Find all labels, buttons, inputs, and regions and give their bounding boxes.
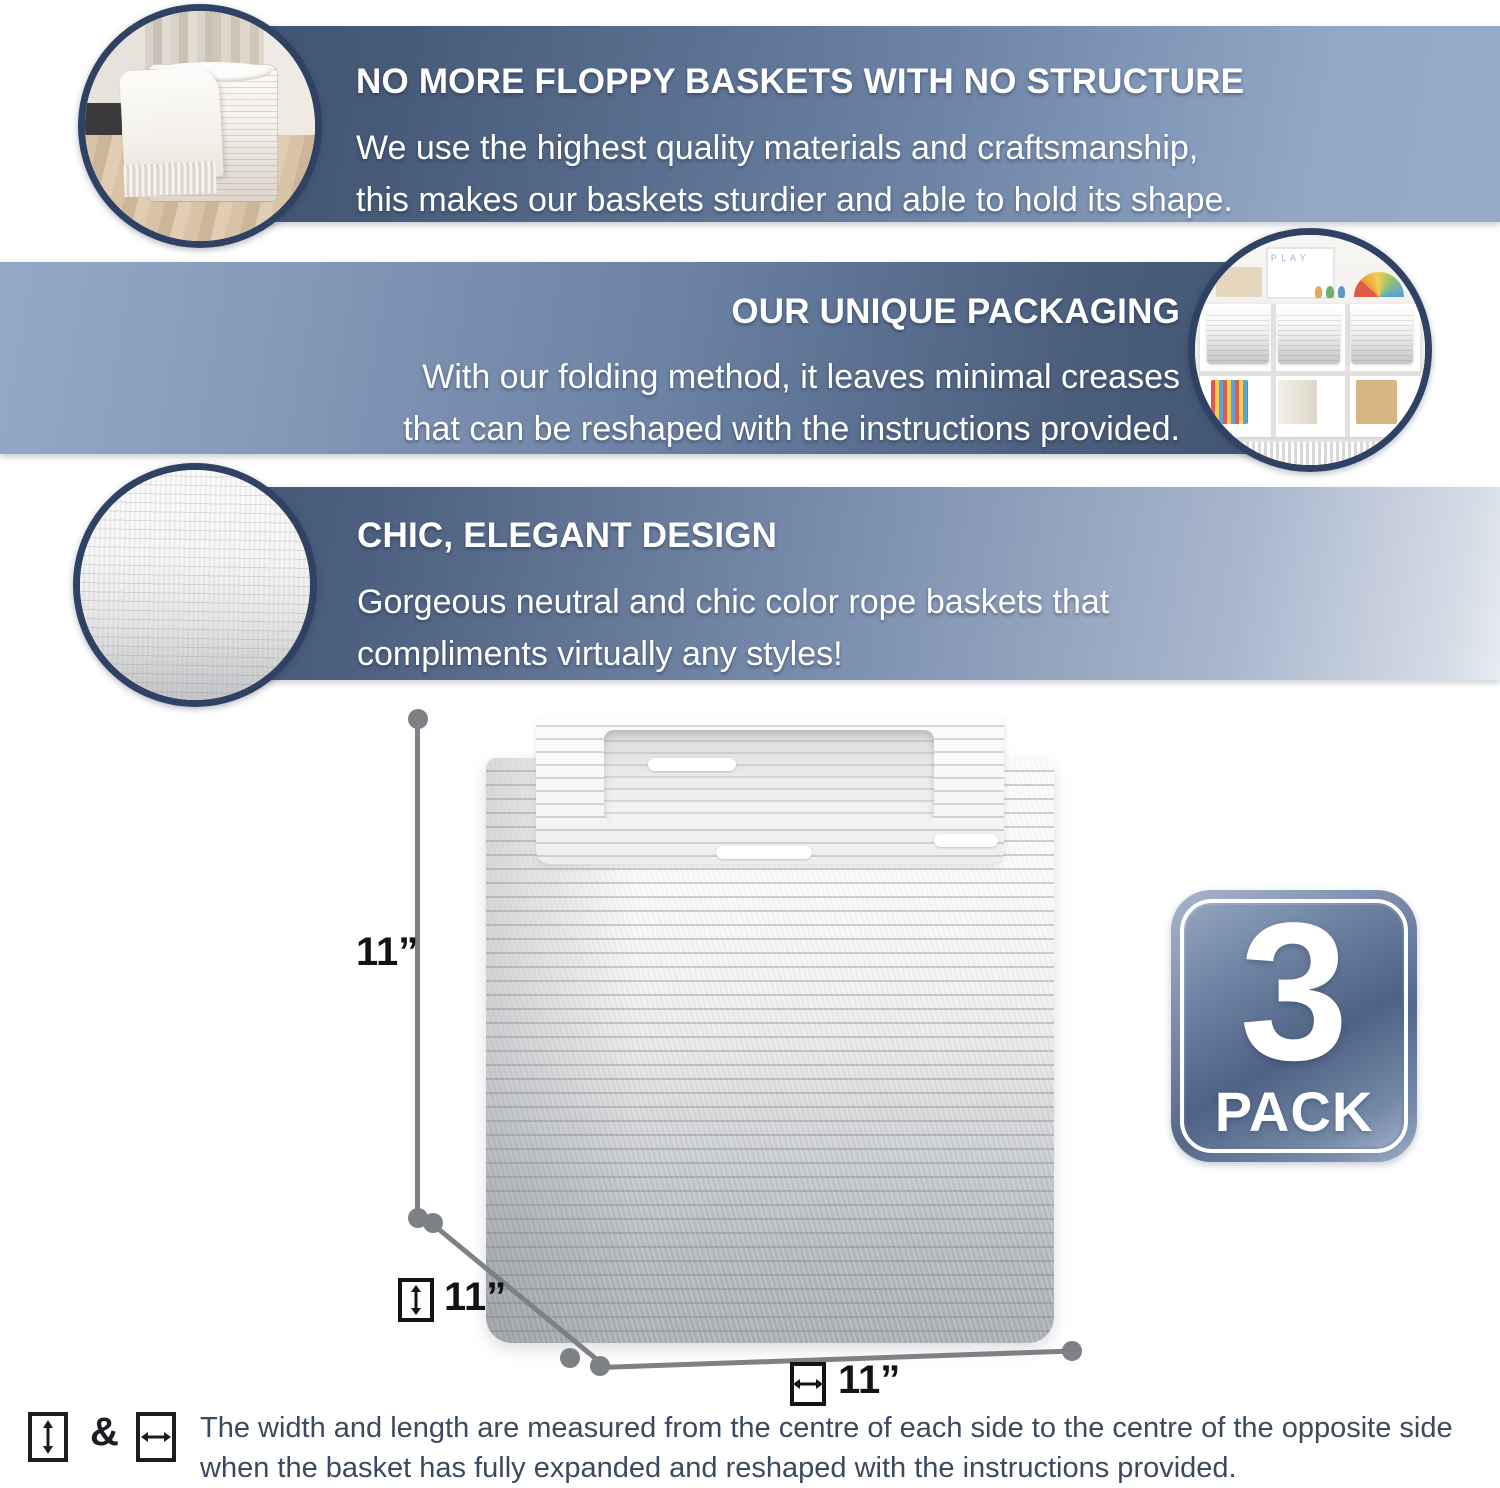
width-dim-endpoint-right (1062, 1341, 1082, 1361)
height-dim-label: 11” (356, 930, 418, 975)
basket-handle-slot (648, 758, 736, 771)
pack-count-word: PACK (1171, 1084, 1417, 1140)
feature-line2-packaging: that can be reshaped with the instructio… (403, 410, 1180, 449)
feature-photo-basket-with-throw (78, 4, 322, 248)
depth-dim-endpoint-bottom (560, 1348, 580, 1368)
feature-line1-structure: We use the highest quality materials and… (356, 129, 1198, 168)
room-scene-illustration (85, 11, 315, 241)
feature-title-structure: NO MORE FLOPPY BASKETS WITH NO STRUCTURE (356, 62, 1244, 102)
width-dim-label: 11” (838, 1358, 900, 1403)
disclaimer-line1: The width and length are measured from t… (200, 1408, 1453, 1448)
ampersand-separator: & (90, 1410, 119, 1455)
width-arrow-box-icon (136, 1412, 176, 1462)
pack-count-number: 3 (1171, 894, 1417, 1090)
feature-line2-design: compliments virtually any styles! (357, 635, 843, 674)
height-arrow-box-icon (398, 1278, 434, 1322)
depth-dim-label: 11” (444, 1275, 506, 1320)
feature-photo-rope-texture (73, 463, 317, 707)
infographic-canvas: NO MORE FLOPPY BASKETS WITH NO STRUCTURE… (0, 0, 1500, 1485)
product-image-basket (452, 706, 1087, 1351)
feature-line1-design: Gorgeous neutral and chic color rope bas… (357, 583, 1109, 622)
rope-basket-graphic (452, 706, 1087, 1351)
feature-band-structure: NO MORE FLOPPY BASKETS WITH NO STRUCTURE… (160, 26, 1500, 222)
disclaimer-line2: when the basket has fully expanded and r… (200, 1448, 1453, 1488)
height-arrow-box-icon (28, 1412, 68, 1462)
feature-title-packaging: OUR UNIQUE PACKAGING (731, 292, 1180, 332)
measurement-disclaimer: & The width and length are measured from… (28, 1408, 1478, 1486)
feature-photo-playroom-shelf: P L A Y (1188, 228, 1432, 472)
rope-texture-illustration (80, 470, 310, 700)
basket-handle-slot (934, 834, 998, 847)
feature-line1-packaging: With our folding method, it leaves minim… (422, 358, 1180, 397)
feature-band-packaging: OUR UNIQUE PACKAGING With our folding me… (0, 262, 1290, 454)
pack-count-badge: 3 PACK (1171, 890, 1417, 1162)
width-arrow-box-icon (790, 1362, 826, 1406)
playroom-scene-illustration: P L A Y (1195, 235, 1425, 465)
feature-band-design: CHIC, ELEGANT DESIGN Gorgeous neutral an… (165, 487, 1500, 680)
basket-handle-slot (716, 846, 812, 859)
feature-line2-structure: this makes our baskets sturdier and able… (356, 181, 1233, 220)
feature-title-design: CHIC, ELEGANT DESIGN (357, 516, 777, 556)
